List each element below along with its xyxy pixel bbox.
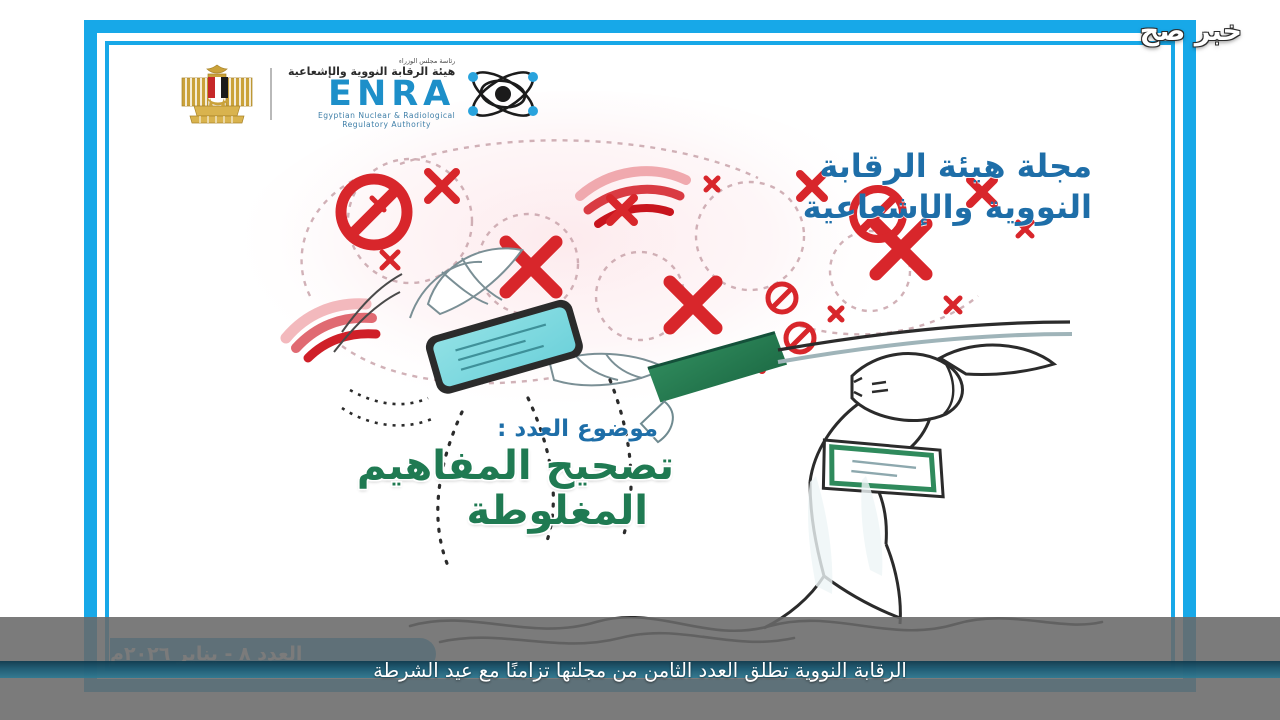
- issue-topic-line2: المغلوطة: [274, 489, 674, 534]
- cover-header-logos: رئاسة مجلس الوزراء هيئة الرقابة النووية …: [180, 58, 545, 130]
- magazine-title-line1: مجلة هيئة الرقابة: [622, 146, 1092, 187]
- magazine-title-line2: النووية والإشعاعية: [622, 187, 1092, 228]
- issue-topic: موضوع العدد : تصحيح المفاهيم المغلوطة: [274, 416, 674, 534]
- news-image: رئاسة مجلس الوزراء هيئة الرقابة النووية …: [0, 0, 1280, 720]
- enra-acronym: ENRA: [328, 78, 455, 110]
- authority-english-line1: Egyptian Nuclear & Radiological: [318, 111, 455, 120]
- enra-logo: رئاسة مجلس الوزراء هيئة الرقابة النووية …: [288, 58, 545, 130]
- issue-topic-line1: تصحيح المفاهيم: [274, 444, 674, 489]
- authority-english-line2: Regulatory Authority: [318, 120, 455, 129]
- news-caption: الرقابة النووية تطلق العدد الثامن من مجل…: [0, 661, 1280, 681]
- logo-divider: [270, 68, 272, 120]
- atom-icon: [461, 63, 545, 125]
- issue-topic-label: موضوع العدد :: [274, 416, 674, 442]
- cover-frame-inner: [105, 41, 1175, 671]
- egypt-eagle-emblem: [180, 60, 254, 128]
- authority-preline: رئاسة مجلس الوزراء: [399, 58, 455, 65]
- site-watermark: خبر صح: [1140, 16, 1242, 47]
- caption-overlay: الرقابة النووية تطلق العدد الثامن من مجل…: [0, 617, 1280, 720]
- magazine-title: مجلة هيئة الرقابة النووية والإشعاعية: [622, 146, 1092, 228]
- magazine-cover: رئاسة مجلس الوزراء هيئة الرقابة النووية …: [84, 20, 1196, 692]
